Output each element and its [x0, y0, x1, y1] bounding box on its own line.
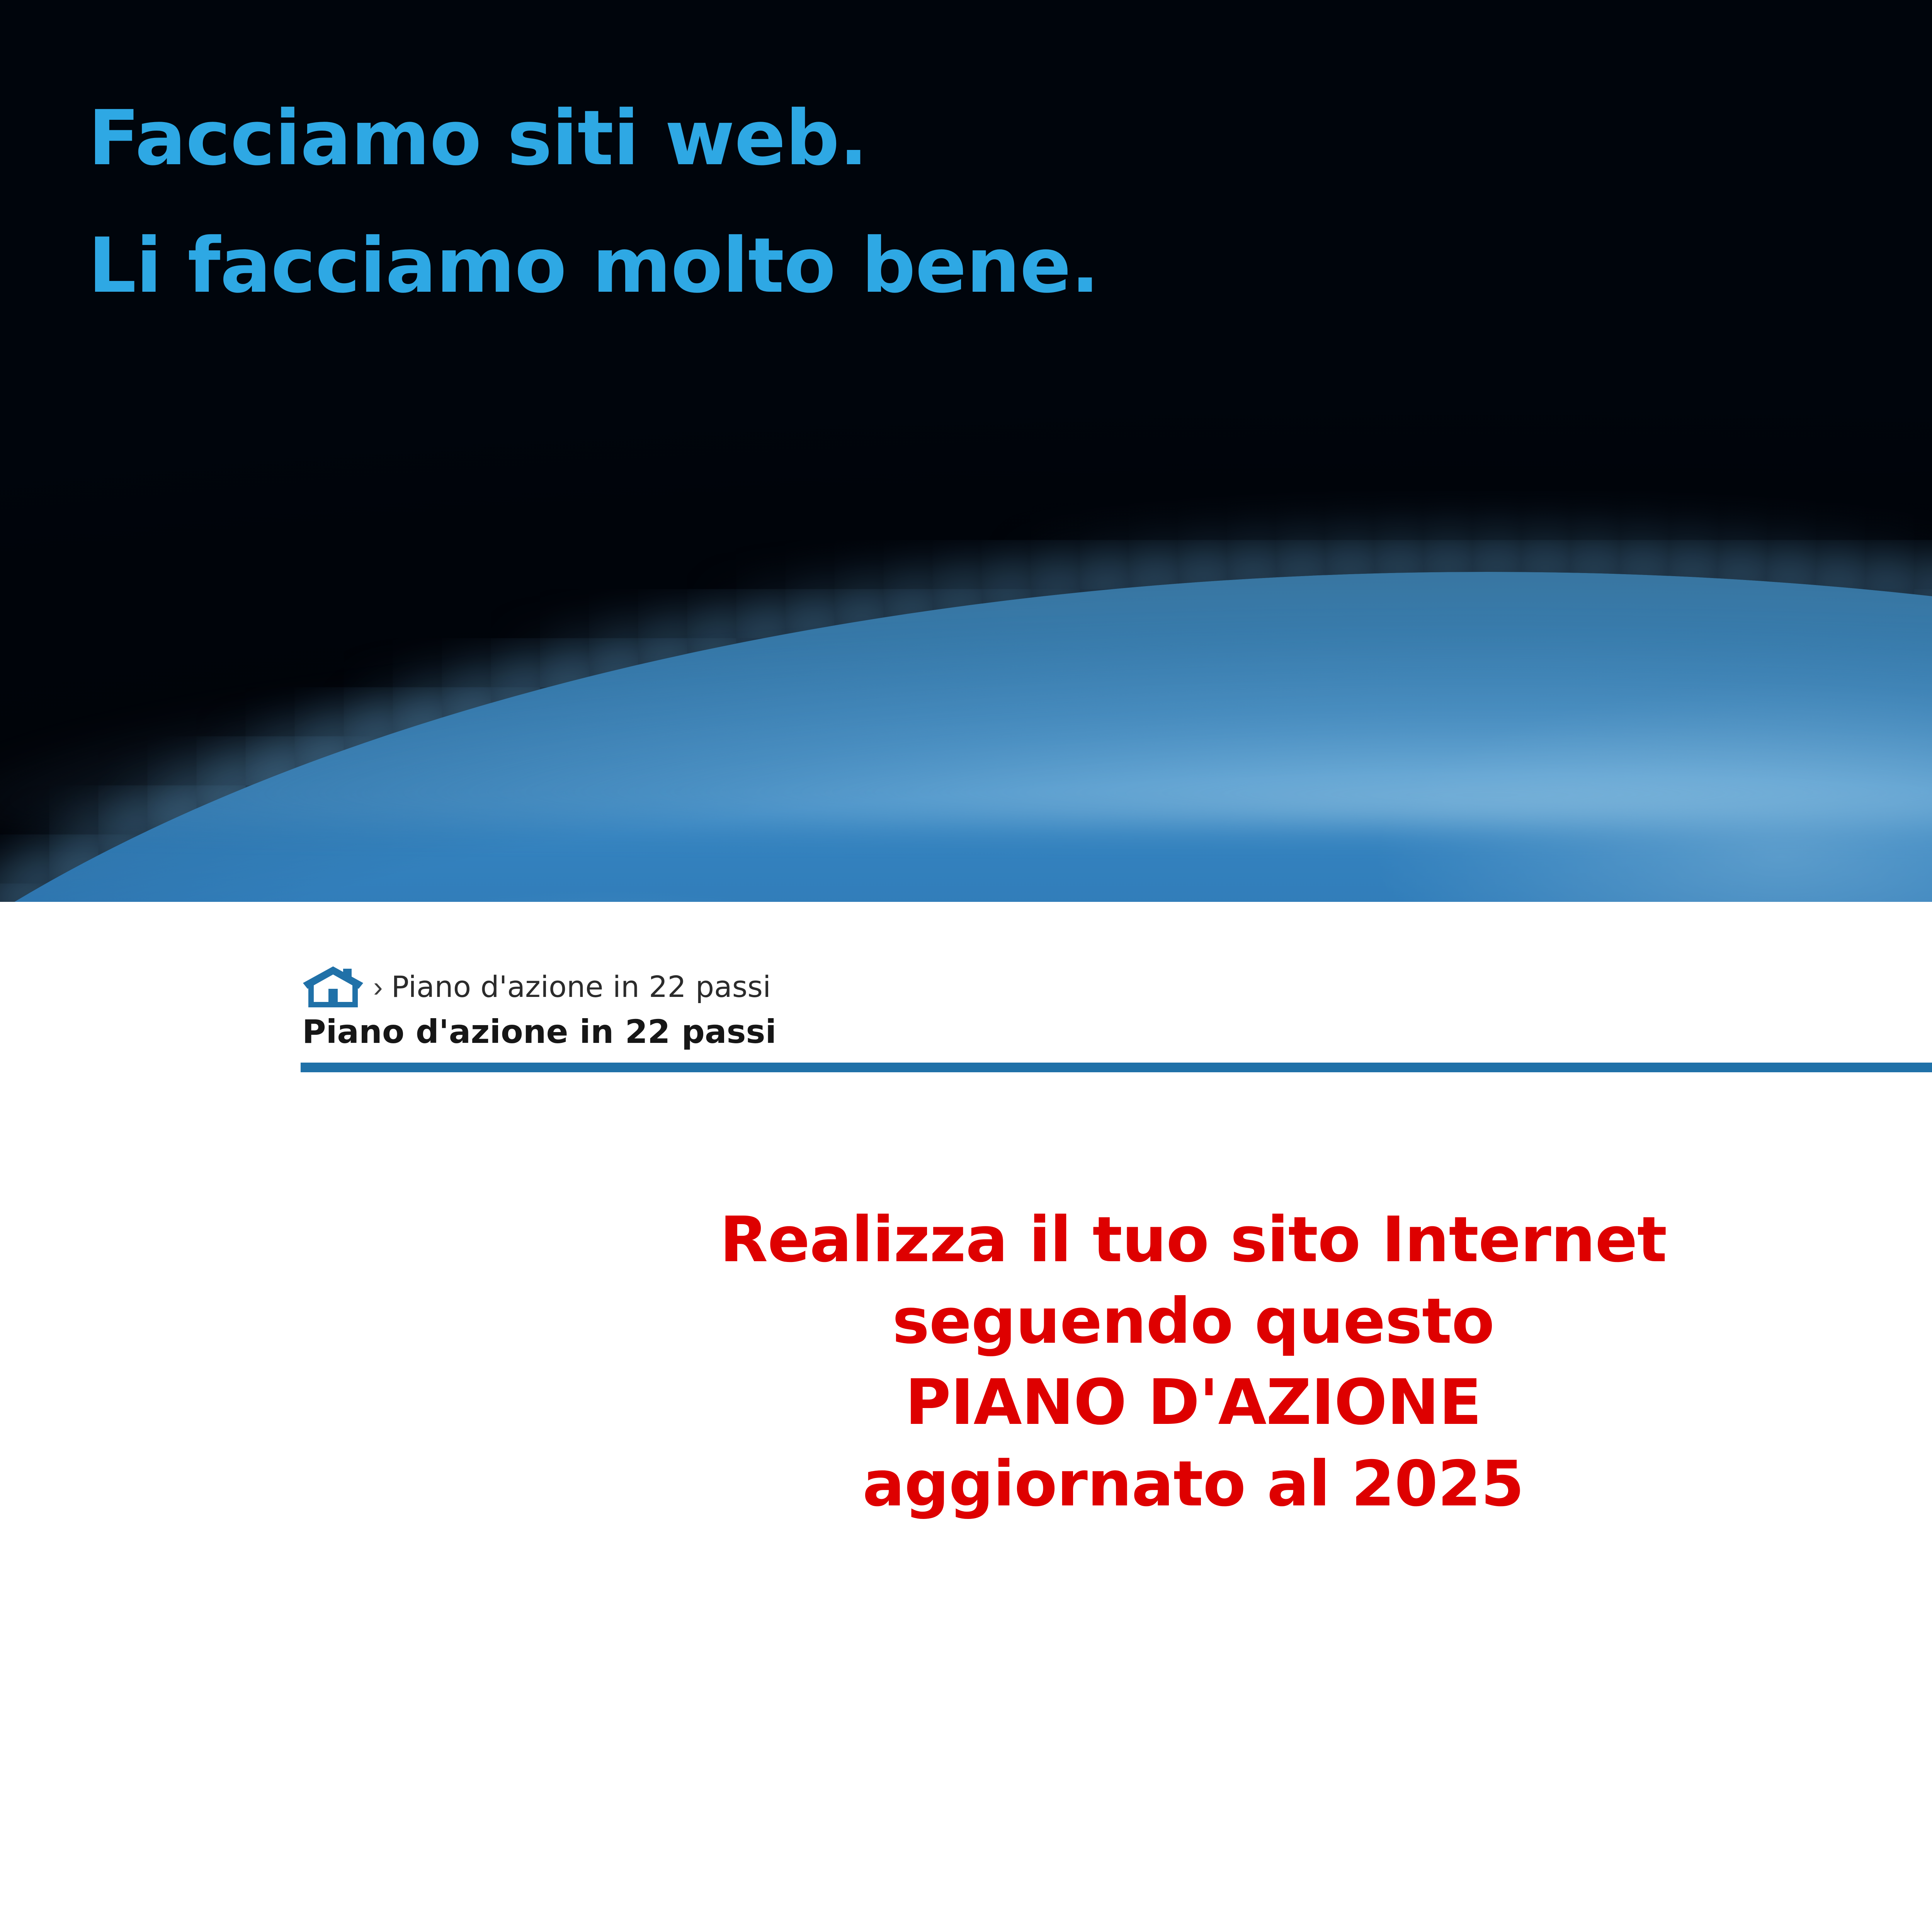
main-heading-line-4: aggiornato al 2025 [862, 1448, 1524, 1520]
hero-tagline-line-1: Facciamo siti web. [88, 100, 1099, 176]
hero-tagline: Facciamo siti web. Li facciamo molto ben… [88, 100, 1099, 304]
hero-tagline-line-2: Li facciamo molto bene. [88, 228, 1099, 304]
breadcrumb: › Piano d'azione in 22 passi [301, 967, 1932, 1007]
hero-banner: Facciamo siti web. Li facciamo molto ben… [0, 0, 1932, 902]
main-heading-line-3: PIANO D'AZIONE [905, 1366, 1481, 1439]
page-title: Piano d'azione in 22 passi [302, 1015, 1932, 1048]
earth-from-space-image [0, 572, 1932, 902]
page-header: › Piano d'azione in 22 passi Piano d'azi… [301, 967, 1932, 1048]
main-heading-line-2: seguendo questo [892, 1285, 1494, 1358]
main-heading-line-1: Realizza il tuo sito Internet [720, 1204, 1667, 1276]
page-root: Facciamo siti web. Li facciamo molto ben… [0, 0, 1932, 1932]
breadcrumb-separator: › [373, 973, 383, 1001]
page-main-heading: Realizza il tuo sito Internet seguendo q… [301, 1199, 1932, 1525]
header-divider-rule [301, 1063, 1932, 1072]
home-icon[interactable] [301, 965, 366, 1009]
content-area: › Piano d'azione in 22 passi Piano d'azi… [0, 902, 1932, 1932]
breadcrumb-current[interactable]: Piano d'azione in 22 passi [391, 972, 771, 1002]
